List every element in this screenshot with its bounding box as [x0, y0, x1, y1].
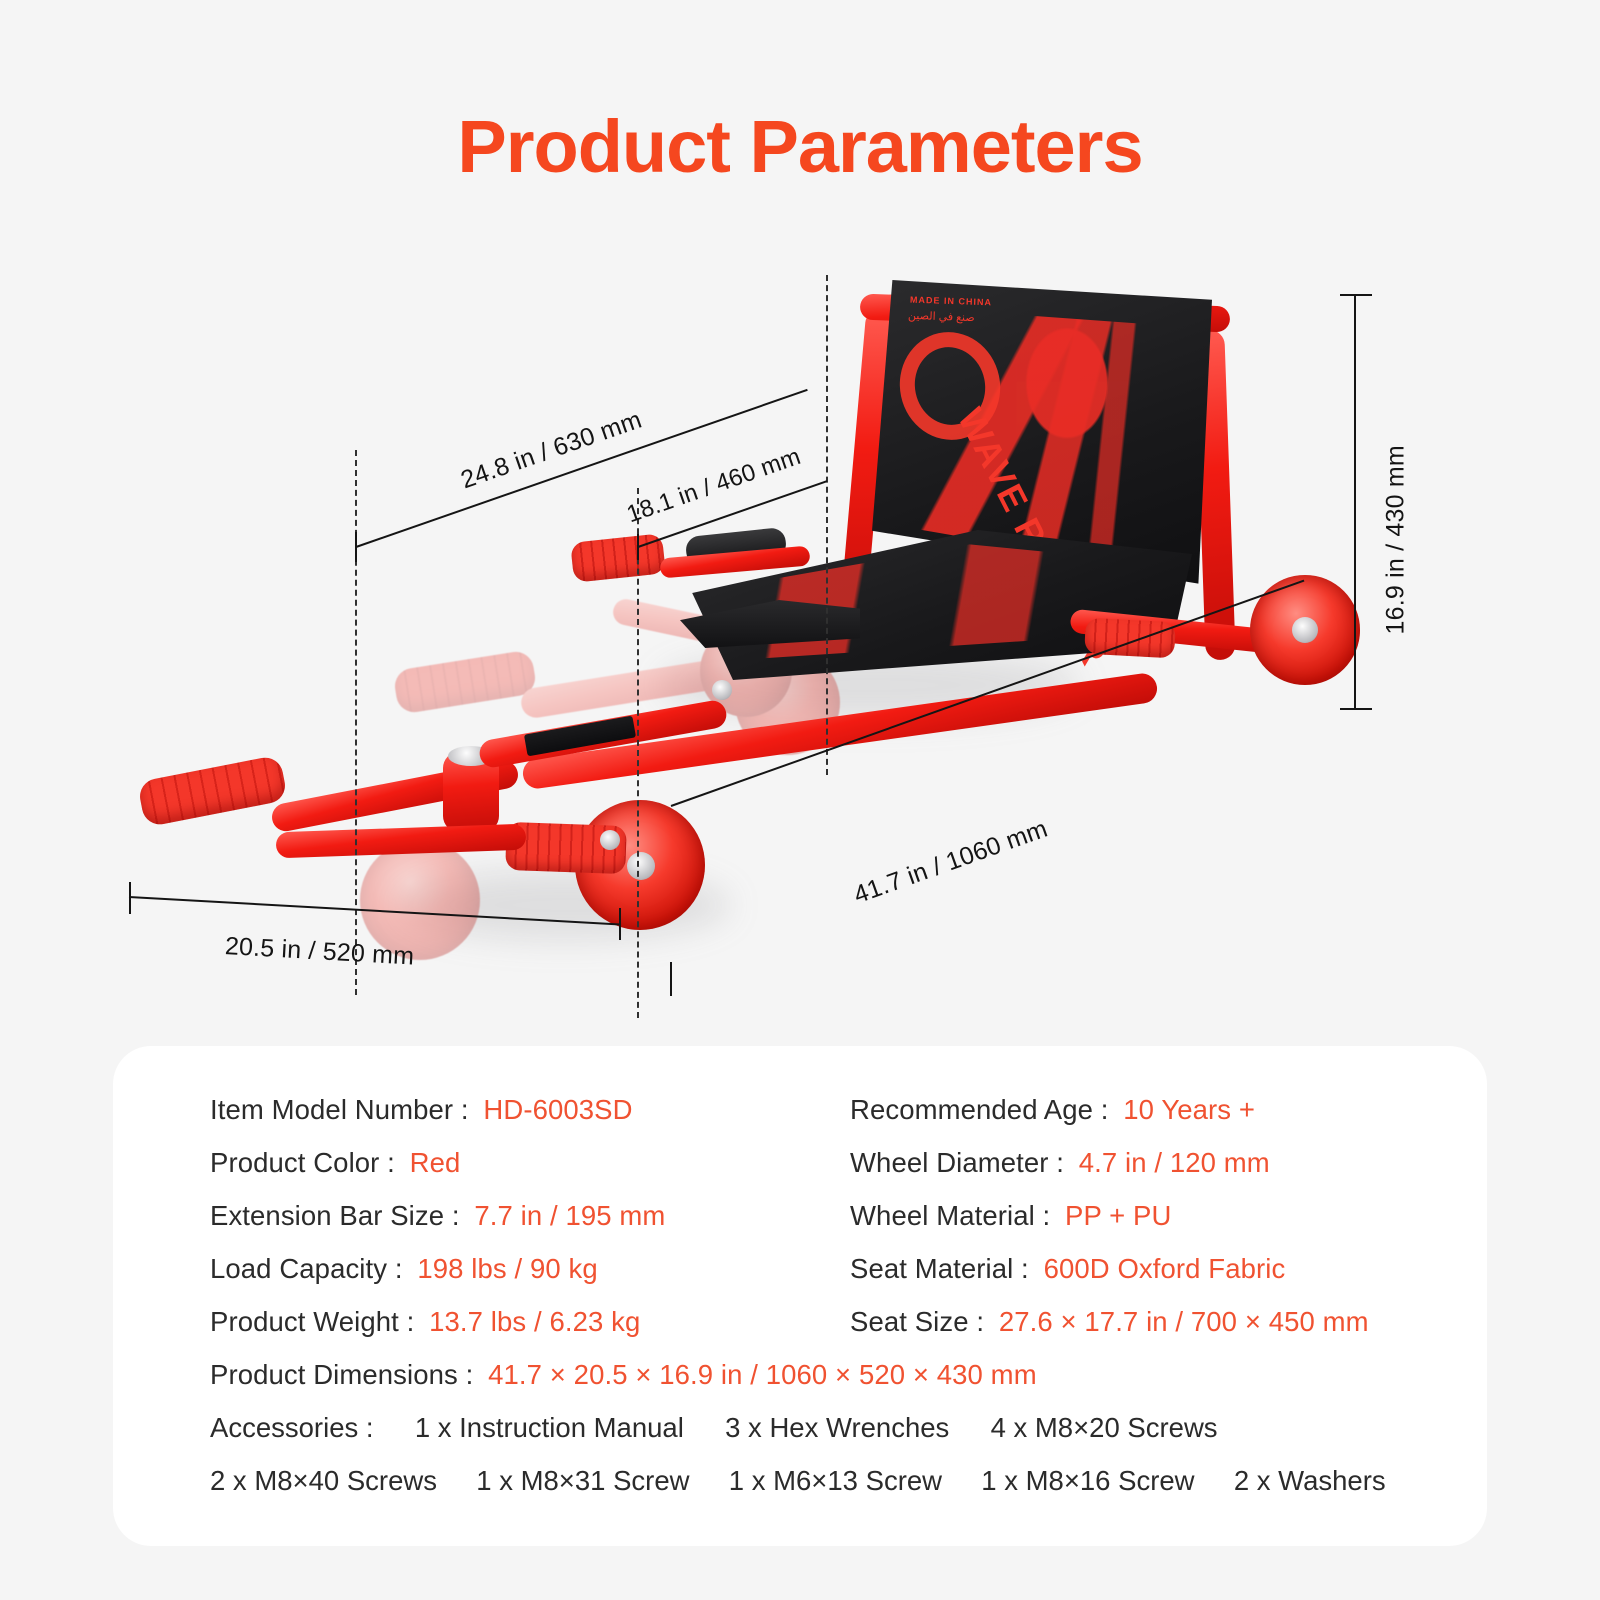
- accessory-item: 2 x Washers: [1234, 1465, 1386, 1497]
- accessory-item: 1 x M6×13 Screw: [729, 1465, 942, 1497]
- spec-recommended-age: Recommended Age : 10 Years +: [850, 1094, 1255, 1126]
- dimtick-width-left: [129, 882, 131, 914]
- spec-value: 13.7 lbs / 6.23 kg: [429, 1306, 640, 1337]
- front-axle-bolt: [600, 830, 620, 850]
- seat-origin-text-arabic: صنع في الصين: [908, 309, 975, 324]
- specs-card: Item Model Number : HD-6003SD Product Co…: [113, 1046, 1487, 1546]
- accessory-item: 1 x Instruction Manual: [415, 1412, 684, 1444]
- accessories-label: Accessories :: [210, 1412, 374, 1444]
- product-diagram: WAVE ROLLER MADE IN CHINA صنع في الصين: [0, 180, 1600, 1050]
- spec-value: Red: [410, 1147, 461, 1178]
- spec-label: Wheel Material :: [850, 1200, 1050, 1231]
- spec-label: Recommended Age :: [850, 1094, 1109, 1125]
- spec-product-color: Product Color : Red: [210, 1147, 460, 1179]
- spec-item-model-number: Item Model Number : HD-6003SD: [210, 1094, 633, 1126]
- spec-extension-bar-size: Extension Bar Size : 7.7 in / 195 mm: [210, 1200, 665, 1232]
- accessory-item: 2 x M8×40 Screws: [210, 1465, 437, 1497]
- spec-value: 198 lbs / 90 kg: [417, 1253, 597, 1284]
- spec-label: Wheel Diameter :: [850, 1147, 1064, 1178]
- dimtick-width-right: [619, 908, 621, 940]
- spec-accessories-line-1: Accessories : 1 x Instruction Manual 3 x…: [210, 1412, 1218, 1444]
- spec-label: Extension Bar Size :: [210, 1200, 460, 1231]
- front-wheel-right-hub: [627, 852, 655, 880]
- dimtick-length-left: [670, 962, 672, 996]
- spec-value: 41.7 × 20.5 × 16.9 in / 1060 × 520 × 430…: [488, 1359, 1037, 1390]
- spec-value: 10 Years +: [1123, 1094, 1255, 1125]
- spec-product-dimensions: Product Dimensions : 41.7 × 20.5 × 16.9 …: [210, 1359, 1037, 1391]
- spec-product-weight: Product Weight : 13.7 lbs / 6.23 kg: [210, 1306, 640, 1338]
- accessory-item: 1 x M8×31 Screw: [476, 1465, 689, 1497]
- steering-grip-left: [137, 755, 288, 828]
- dimtick-height-bottom: [1340, 708, 1372, 710]
- spec-label: Seat Size :: [850, 1306, 984, 1337]
- accessory-item: 4 x M8×20 Screws: [991, 1412, 1218, 1444]
- spec-label: Product Weight :: [210, 1306, 414, 1337]
- spec-label: Product Dimensions :: [210, 1359, 473, 1390]
- spec-label: Load Capacity :: [210, 1253, 403, 1284]
- spec-value: 27.6 × 17.7 in / 700 × 450 mm: [999, 1306, 1369, 1337]
- dimtick-seat-height-left: [637, 534, 639, 560]
- spec-label: Product Color :: [210, 1147, 395, 1178]
- accessory-item: 3 x Hex Wrenches: [725, 1412, 949, 1444]
- spec-label: Item Model Number :: [210, 1094, 469, 1125]
- guide-middle-dashed: [637, 488, 639, 1018]
- steering-bolt: [712, 680, 732, 700]
- spec-load-capacity: Load Capacity : 198 lbs / 90 kg: [210, 1253, 598, 1285]
- front-cross-bar: [276, 824, 527, 859]
- spec-wheel-material: Wheel Material : PP + PU: [850, 1200, 1171, 1232]
- rear-wheel-hub: [1292, 617, 1318, 643]
- spec-value: 4.7 in / 120 mm: [1079, 1147, 1270, 1178]
- spec-value: 7.7 in / 195 mm: [474, 1200, 665, 1231]
- spec-label: Seat Material :: [850, 1253, 1029, 1284]
- page-title: Product Parameters: [0, 104, 1600, 189]
- spec-wheel-diameter: Wheel Diameter : 4.7 in / 120 mm: [850, 1147, 1270, 1179]
- spec-value: 600D Oxford Fabric: [1044, 1253, 1286, 1284]
- dimline-overall-height: [1354, 296, 1356, 710]
- product-parameters-page: Product Parameters: [0, 0, 1600, 1600]
- dimtick-seat-depth-left: [355, 532, 357, 562]
- spec-accessories-line-2: 2 x M8×40 Screws 1 x M8×31 Screw 1 x M6×…: [210, 1465, 1386, 1497]
- spec-value: PP + PU: [1065, 1200, 1171, 1231]
- spec-value: HD-6003SD: [483, 1094, 632, 1125]
- product-photo: WAVE ROLLER MADE IN CHINA صنع في الصين: [0, 180, 1600, 1050]
- spec-seat-size: Seat Size : 27.6 × 17.7 in / 700 × 450 m…: [850, 1306, 1369, 1338]
- spec-seat-material: Seat Material : 600D Oxford Fabric: [850, 1253, 1285, 1285]
- dimtick-height-top: [1340, 294, 1372, 296]
- dimlabel-overall-height: 16.9 in / 430 mm: [1382, 445, 1411, 634]
- guide-seat-dashed: [826, 275, 828, 775]
- accessory-item: 1 x M8×16 Screw: [981, 1465, 1194, 1497]
